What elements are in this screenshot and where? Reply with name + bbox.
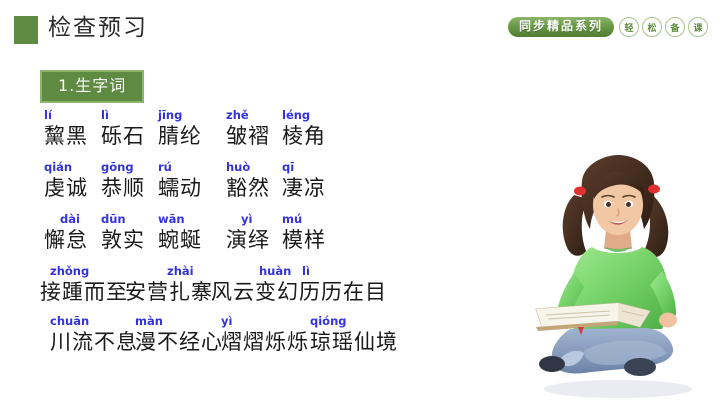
hanzi-text: 恭顺: [101, 174, 145, 202]
vocabulary-word: huò豁然: [226, 160, 270, 202]
vocabulary-word: yì演绎: [226, 212, 270, 254]
brand-chip: 备: [665, 17, 685, 37]
vocabulary-row: chuān川流不息màn漫不经心yì熠熠烁烁qióng琼瑶仙境: [22, 314, 422, 364]
pinyin-text: qī: [282, 160, 326, 174]
pinyin-text: léng: [282, 108, 326, 122]
pinyin-text: dài: [60, 212, 88, 226]
hanzi-text: 演绎: [226, 226, 270, 254]
pinyin-text: yì: [221, 314, 309, 328]
section-label: 1.生字词: [40, 70, 144, 103]
hanzi-text: 黧黑: [44, 122, 88, 150]
hanzi-text: 接踵而至: [40, 278, 128, 306]
hanzi-text: 蠕动: [158, 174, 202, 202]
hanzi-text: 腈纶: [158, 122, 202, 150]
pinyin-text: gōng: [101, 160, 145, 174]
pinyin-text: màn: [135, 314, 223, 328]
vocabulary-row: lí黧黑lì砾石jīng腈纶zhě皱褶léng棱角: [22, 108, 422, 160]
hanzi-text: 豁然: [226, 174, 270, 202]
pinyin-text: zhǒng: [50, 264, 128, 278]
vocabulary-word: gōng恭顺: [101, 160, 145, 202]
vocabulary-word: dài懈怠: [44, 212, 88, 254]
hanzi-text: 棱角: [282, 122, 326, 150]
girl-reading-photo: [522, 151, 714, 403]
brand-pill-label: 同步精品系列: [508, 17, 614, 37]
hanzi-text: 漫不经心: [135, 328, 223, 356]
hanzi-text: 川流不息: [50, 328, 138, 356]
pinyin-text: zhài: [167, 264, 213, 278]
vocabulary-word: lì砾石: [101, 108, 145, 150]
page-title: 检查预习: [48, 13, 148, 43]
pinyin-text: rú: [158, 160, 202, 174]
vocabulary-word: wān蜿蜒: [158, 212, 202, 254]
vocabulary-row: qián虔诚gōng恭顺rú蠕动huò豁然qī凄凉: [22, 160, 422, 212]
vocabulary-row: dài懈怠dūn敦实wān蜿蜒yì演绎mú模样: [22, 212, 422, 264]
brand-badge: 同步精品系列 轻 松 备 课: [508, 17, 708, 37]
vocabulary-word: huàn风云变幻: [211, 264, 299, 306]
brand-chip-group: 轻 松 备 课: [619, 17, 708, 37]
pinyin-text: qián: [44, 160, 88, 174]
pinyin-text: lí: [44, 108, 88, 122]
vocabulary-word: léng棱角: [282, 108, 326, 150]
pinyin-text: chuān: [50, 314, 138, 328]
vocabulary-word: màn漫不经心: [135, 314, 223, 356]
vocabulary-word: qián虔诚: [44, 160, 88, 202]
hanzi-text: 安营扎寨: [125, 278, 213, 306]
pinyin-text: jīng: [158, 108, 202, 122]
brand-chip: 轻: [619, 17, 639, 37]
pinyin-text: lì: [302, 264, 387, 278]
vocabulary-grid: lí黧黑lì砾石jīng腈纶zhě皱褶léng棱角qián虔诚gōng恭顺rú蠕…: [22, 108, 422, 364]
vocabulary-word: rú蠕动: [158, 160, 202, 202]
pinyin-text: mú: [282, 212, 326, 226]
hanzi-text: 模样: [282, 226, 326, 254]
vocabulary-word: chuān川流不息: [50, 314, 138, 356]
vocabulary-word: dūn敦实: [101, 212, 145, 254]
hanzi-text: 敦实: [101, 226, 145, 254]
pinyin-text: lì: [101, 108, 145, 122]
hanzi-text: 历历在目: [299, 278, 387, 306]
pinyin-text: huò: [226, 160, 270, 174]
vocabulary-word: yì熠熠烁烁: [221, 314, 309, 356]
brand-chip: 课: [688, 17, 708, 37]
hanzi-text: 凄凉: [282, 174, 326, 202]
vocabulary-word: mú模样: [282, 212, 326, 254]
vocabulary-word: lì历历在目: [299, 264, 387, 306]
vocabulary-word: qī凄凉: [282, 160, 326, 202]
pinyin-text: yì: [241, 212, 270, 226]
vocabulary-word: zhài安营扎寨: [125, 264, 213, 306]
vocabulary-row: zhǒng接踵而至zhài安营扎寨huàn风云变幻lì历历在目: [22, 264, 422, 314]
hanzi-text: 熠熠烁烁: [221, 328, 309, 356]
hanzi-text: 懈怠: [44, 226, 88, 254]
header-accent-marker: [14, 16, 38, 44]
vocabulary-word: qióng琼瑶仙境: [310, 314, 398, 356]
slide-canvas: 检查预习 同步精品系列 轻 松 备 课 1.生字词 lí黧黑lì砾石jīng腈纶…: [0, 0, 720, 405]
pinyin-text: qióng: [310, 314, 398, 328]
hanzi-text: 琼瑶仙境: [310, 328, 398, 356]
vocabulary-word: jīng腈纶: [158, 108, 202, 150]
hanzi-text: 风云变幻: [211, 278, 299, 306]
hanzi-text: 砾石: [101, 122, 145, 150]
vocabulary-word: lí黧黑: [44, 108, 88, 150]
hanzi-text: 虔诚: [44, 174, 88, 202]
hanzi-text: 皱褶: [226, 122, 270, 150]
pinyin-text: wān: [158, 212, 202, 226]
pinyin-text: huàn: [259, 264, 299, 278]
brand-chip: 松: [642, 17, 662, 37]
pinyin-text: zhě: [226, 108, 270, 122]
hanzi-text: 蜿蜒: [158, 226, 202, 254]
vocabulary-word: zhǒng接踵而至: [40, 264, 128, 306]
pinyin-text: dūn: [101, 212, 145, 226]
vocabulary-word: zhě皱褶: [226, 108, 270, 150]
